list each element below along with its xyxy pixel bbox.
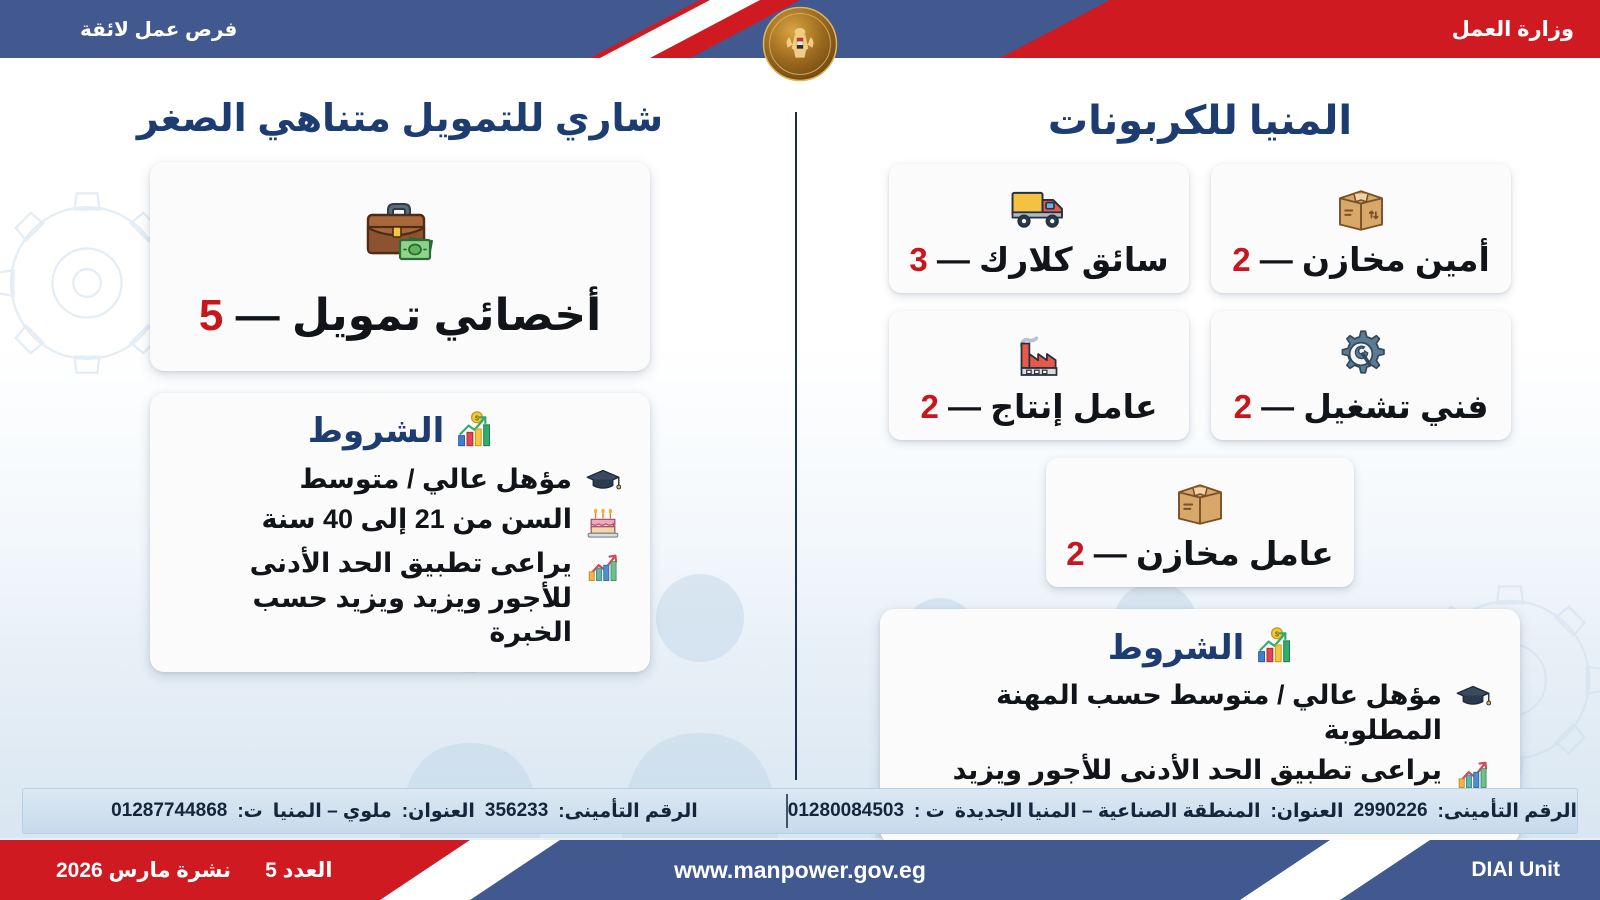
left-company-contact: الرقم التأمينى: 356233 العنوان: ملوي – ا…: [23, 800, 786, 823]
condition-text: يراعى تطبيق الحد الأدنى للأجور ويزيد ويز…: [176, 546, 572, 650]
right-company-contact: الرقم التأمينى: 2990226 العنوان: المنطقة…: [788, 800, 1577, 823]
growth-chart-icon: [1452, 753, 1494, 789]
address-value: ملوي – المنيا: [273, 800, 392, 823]
header-tagline: فرص عمل لائقة: [80, 0, 237, 58]
header-ministry-name: وزارة العمل: [1452, 0, 1574, 58]
growth-chart-money-icon: $: [1252, 625, 1292, 670]
job-card-label: سائق كلارك — 3: [909, 240, 1168, 279]
factory-icon: [1011, 323, 1067, 385]
phone-value: 01287744868: [111, 800, 227, 822]
job-dash: —: [937, 241, 970, 278]
condition-text: السن من 21 إلى 40 سنة: [262, 502, 572, 537]
address-value: المنطقة الصناعية – المنيا الجديدة: [955, 800, 1261, 823]
job-count: 2: [1234, 388, 1252, 425]
contact-separator: [786, 794, 788, 828]
insurance-label: الرقم التأمينى:: [558, 800, 697, 823]
left-conditions-card: $ الشروط: [150, 393, 650, 672]
job-title: سائق كلارك: [979, 241, 1169, 278]
job-dash: —: [1261, 388, 1294, 425]
job-title: فني تشغيل: [1303, 388, 1488, 425]
condition-item: يراعى تطبيق الحد الأدنى للأجور ويزيد ويز…: [176, 546, 624, 650]
job-title: عامل إنتاج: [990, 388, 1157, 425]
page-footer: العدد 5 نشرة مارس 2026 www.manpower.gov.…: [0, 840, 1600, 900]
job-card[interactable]: أمين مخازن — 2: [1211, 164, 1511, 293]
conditions-heading-text: الشروط: [1108, 628, 1245, 668]
footer-website[interactable]: www.manpower.gov.eg: [0, 840, 1600, 900]
package-box-icon: [1172, 470, 1228, 532]
job-dash: —: [948, 388, 981, 425]
contact-strip: الرقم التأمينى: 2990226 العنوان: المنطقة…: [22, 788, 1578, 834]
insurance-label: الرقم التأمينى:: [1438, 800, 1577, 823]
ministry-of-labour-emblem-icon: [762, 6, 838, 82]
job-title: أخصائي تمويل: [292, 291, 601, 340]
job-dash: —: [1094, 535, 1127, 572]
left-company-column: شاري للتمويل متناهي الصغر أخصائي تمويل —: [30, 96, 770, 672]
phone-value: 01280084503: [788, 800, 904, 822]
conditions-heading: $ الشروط: [176, 409, 624, 454]
footer-unit: DIAI Unit: [1471, 840, 1560, 900]
right-job-cards: أمين مخازن — 2: [830, 164, 1570, 440]
job-count: 3: [909, 241, 927, 278]
job-card[interactable]: فني تشغيل — 2: [1211, 311, 1511, 440]
job-count: 2: [920, 388, 938, 425]
growth-chart-icon: [582, 546, 624, 582]
job-count: 2: [1232, 241, 1250, 278]
graduation-cap-icon: [1452, 678, 1494, 712]
left-company-title: شاري للتمويل متناهي الصغر: [30, 96, 770, 144]
job-title: عامل مخازن: [1136, 535, 1334, 572]
feature-job-label: أخصائي تمويل — 5: [199, 290, 601, 341]
briefcase-money-icon: [354, 188, 446, 280]
job-dash: —: [1260, 241, 1293, 278]
job-dash: —: [236, 291, 280, 340]
conditions-heading: $ الشروط: [906, 625, 1494, 670]
job-card[interactable]: عامل إنتاج — 2: [889, 311, 1189, 440]
left-feature-job-card[interactable]: أخصائي تمويل — 5: [150, 162, 650, 371]
insurance-number: 2990226: [1354, 800, 1428, 822]
right-company-title: المنيا للكربونات: [830, 96, 1570, 146]
job-count: 2: [1066, 535, 1084, 572]
condition-item: السن من 21 إلى 40 سنة: [176, 502, 624, 540]
condition-item: مؤهل عالي / متوسط حسب المهنة المطلوبة: [906, 678, 1494, 747]
job-card-label: عامل مخازن — 2: [1066, 534, 1333, 573]
growth-chart-money-icon: $: [452, 409, 492, 454]
insurance-number: 356233: [485, 800, 548, 822]
package-box-icon: [1333, 176, 1389, 238]
job-card[interactable]: سائق كلارك — 3: [889, 164, 1189, 293]
phone-label: ت :: [914, 800, 945, 823]
address-label: العنوان:: [1270, 800, 1343, 823]
infographic-page: فرص عمل لائقة وزارة العمل المنيا للكربون…: [0, 0, 1600, 900]
column-divider: [795, 112, 797, 780]
job-title: أمين مخازن: [1302, 241, 1490, 278]
phone-label: ت:: [237, 800, 262, 823]
job-card[interactable]: عامل مخازن — 2: [1046, 458, 1353, 587]
right-job-cards-solo-row: عامل مخازن — 2: [830, 458, 1570, 587]
condition-item: مؤهل عالي / متوسط: [176, 462, 624, 497]
job-count: 5: [199, 291, 223, 340]
birthday-cake-icon: [582, 502, 624, 540]
condition-text: مؤهل عالي / متوسط حسب المهنة المطلوبة: [906, 678, 1442, 747]
condition-text: مؤهل عالي / متوسط: [299, 462, 572, 497]
gear-wrench-icon: [1333, 323, 1389, 385]
conditions-heading-text: الشروط: [308, 411, 445, 451]
address-label: العنوان:: [402, 800, 475, 823]
right-company-column: المنيا للكربونات: [830, 96, 1570, 844]
job-card-label: عامل إنتاج — 2: [920, 387, 1157, 426]
job-card-label: أمين مخازن — 2: [1232, 240, 1490, 279]
graduation-cap-icon: [582, 462, 624, 496]
delivery-truck-icon: [1009, 176, 1069, 238]
job-card-label: فني تشغيل — 2: [1234, 387, 1489, 426]
